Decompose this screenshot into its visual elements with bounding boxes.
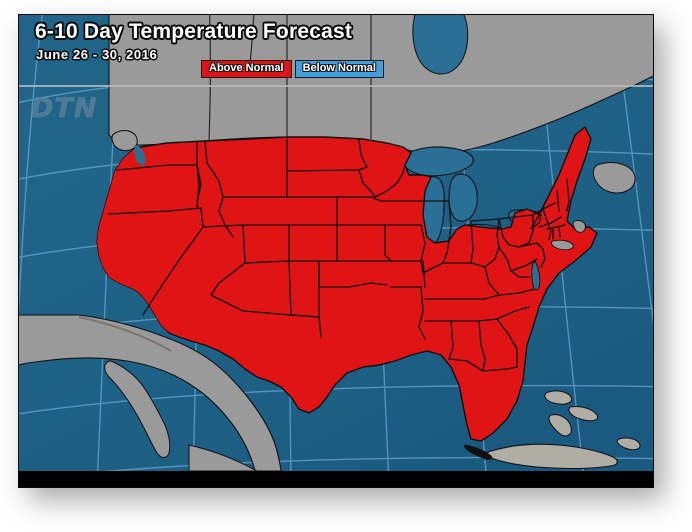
legend-item-below-normal[interactable]: Below Normal bbox=[295, 60, 384, 78]
legend-item-above-normal[interactable]: Above Normal bbox=[201, 60, 292, 78]
lake-huron bbox=[449, 174, 477, 221]
forecast-map-panel: 6-10 Day Temperature Forecast June 26 - … bbox=[18, 14, 654, 488]
legend: Above Normal Below Normal bbox=[201, 60, 384, 78]
forecast-map-graphic[interactable] bbox=[19, 15, 654, 471]
map-bottom-bar bbox=[19, 471, 654, 488]
map-viewport[interactable]: 6-10 Day Temperature Forecast June 26 - … bbox=[19, 15, 654, 471]
